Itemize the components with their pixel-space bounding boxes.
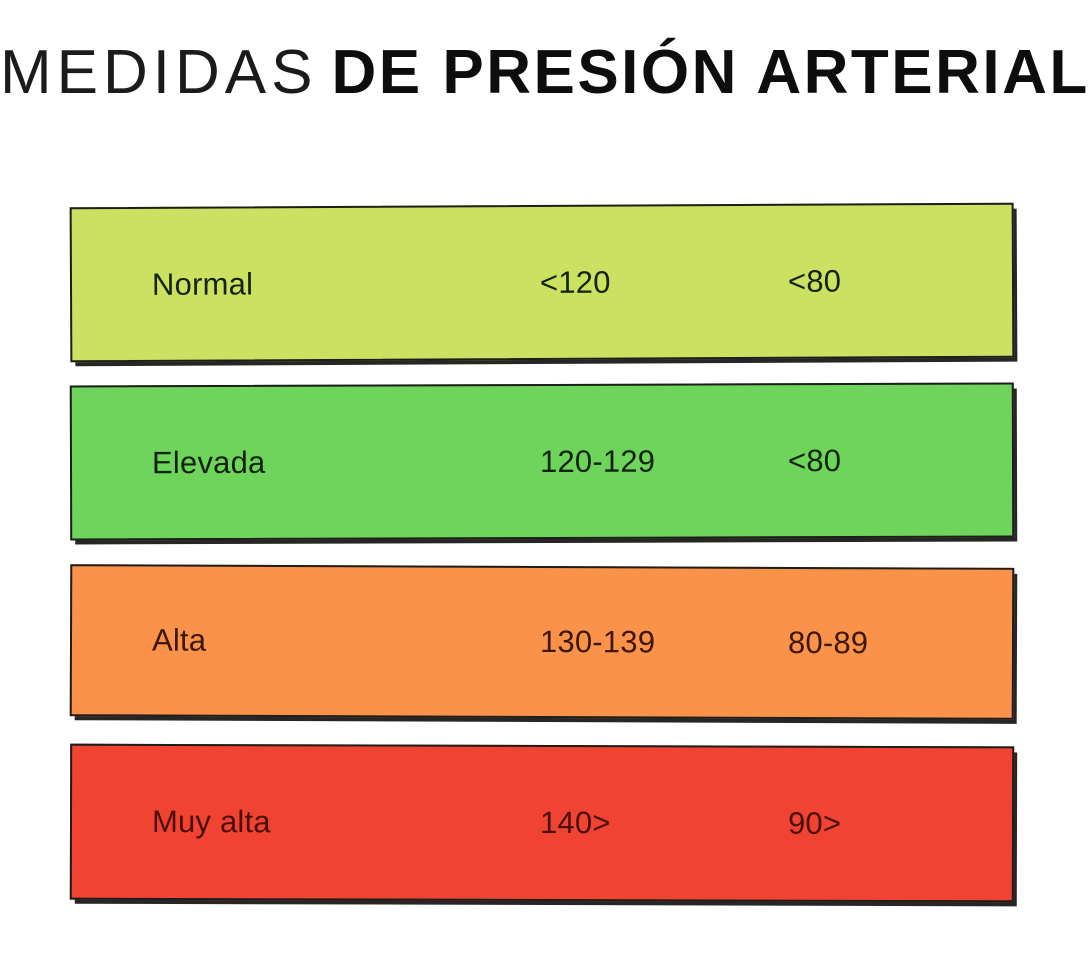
bar-muy-alta: Muy alta 140> 90> (70, 744, 1014, 903)
bar-row-muy-alta: Muy alta 140> 90> (70, 744, 1014, 903)
bar-elevada-systolic: 120-129 (540, 443, 655, 479)
bar-elevada: Elevada 120-129 <80 (70, 383, 1014, 541)
bar-alta: Alta 130-139 80-89 (70, 564, 1015, 720)
bar-muy-alta-diastolic: 90> (788, 806, 841, 842)
blood-pressure-bars: Normal <120 <80 Elevada 120-129 <80 Alta… (0, 0, 1088, 978)
bar-normal-diastolic: <80 (788, 263, 841, 299)
bar-elevada-label: Elevada (152, 444, 266, 480)
infographic-root: MEDIDASDE PRESIÓN ARTERIAL Normal <120 <… (0, 0, 1088, 978)
bar-normal-label: Normal (152, 266, 253, 302)
bar-normal-systolic: <120 (540, 264, 611, 300)
bar-row-elevada: Elevada 120-129 <80 (70, 383, 1014, 541)
bar-muy-alta-label: Muy alta (152, 804, 271, 840)
bar-alta-label: Alta (152, 623, 206, 659)
bar-normal: Normal <120 <80 (70, 203, 1015, 363)
bar-elevada-diastolic: <80 (788, 443, 841, 479)
bar-alta-systolic: 130-139 (540, 624, 655, 660)
bar-row-normal: Normal <120 <80 (70, 203, 1015, 363)
bar-row-alta: Alta 130-139 80-89 (70, 564, 1015, 720)
bar-muy-alta-systolic: 140> (540, 805, 611, 841)
bar-alta-diastolic: 80-89 (788, 625, 868, 661)
